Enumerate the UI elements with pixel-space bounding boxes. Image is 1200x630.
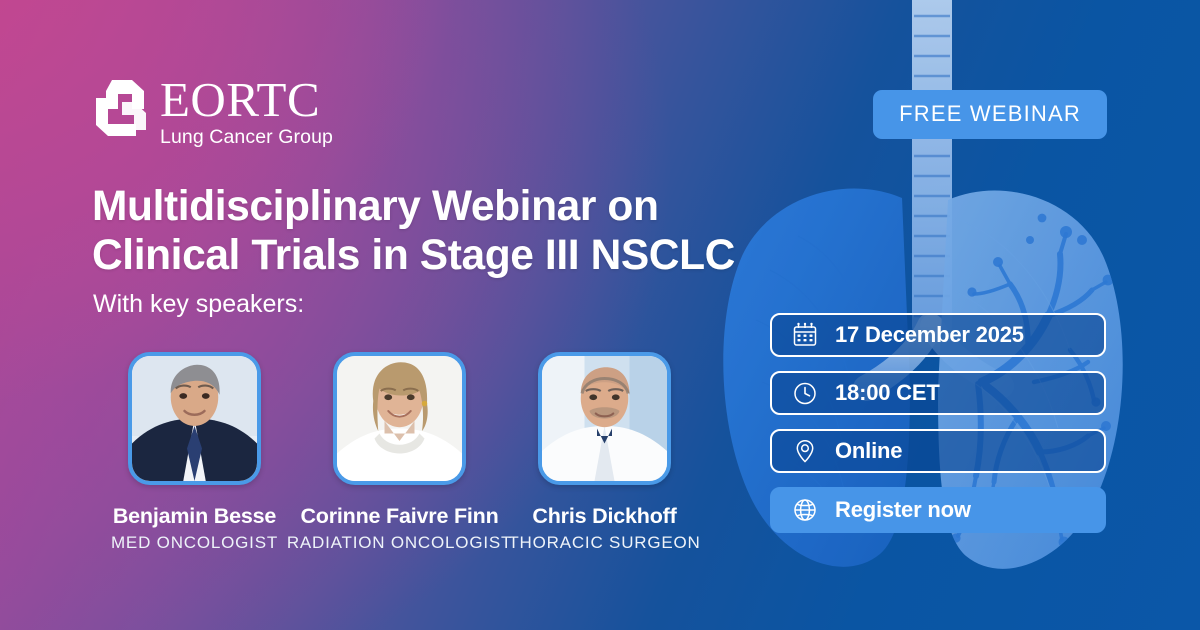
speaker-card: Chris Dickhoff THORACIC SURGEON: [502, 352, 707, 553]
globe-icon: [792, 497, 818, 523]
event-time-box: 18:00 CET: [770, 371, 1106, 415]
calendar-icon: [792, 322, 818, 348]
speaker-name: Chris Dickhoff: [532, 504, 676, 529]
speaker-name: Benjamin Besse: [113, 504, 276, 529]
speaker-card: Benjamin Besse MED ONCOLOGIST: [92, 352, 297, 553]
speaker-role: THORACIC SURGEON: [508, 533, 700, 553]
event-date-box: 17 December 2025: [770, 313, 1106, 357]
speaker-role: RADIATION ONCOLOGIST: [287, 533, 512, 553]
register-now-button[interactable]: Register now: [770, 487, 1106, 533]
eortc-logo: EORTC Lung Cancer Group: [92, 76, 333, 149]
webinar-poster: EORTC Lung Cancer Group FREE WEBINAR Mul…: [0, 0, 1200, 630]
eortc-cube-logo-icon: [92, 78, 150, 140]
logo-tagline: Lung Cancer Group: [160, 126, 333, 149]
event-time-text: 18:00 CET: [835, 380, 940, 406]
logo-wordmark: EORTC: [160, 76, 333, 124]
speaker-role: MED ONCOLOGIST: [111, 533, 278, 553]
avatar: [333, 352, 466, 485]
title-line-1: Multidisciplinary Webinar on: [92, 182, 735, 231]
speakers-list: Benjamin Besse MED ONCOLOGIST: [92, 352, 707, 553]
page-title: Multidisciplinary Webinar on Clinical Tr…: [92, 182, 735, 281]
event-location-box: Online: [770, 429, 1106, 473]
event-date-text: 17 December 2025: [835, 322, 1024, 348]
avatar: [538, 352, 671, 485]
speakers-label: With key speakers:: [93, 290, 304, 319]
speaker-name: Corinne Faivre Finn: [300, 504, 498, 529]
clock-icon: [792, 380, 818, 406]
avatar: [128, 352, 261, 485]
free-webinar-badge: FREE WEBINAR: [873, 90, 1107, 139]
event-details: 17 December 2025 18:00 CET Online: [770, 313, 1106, 533]
title-line-2: Clinical Trials in Stage III NSCLC: [92, 231, 735, 280]
register-now-label: Register now: [835, 497, 971, 523]
speaker-card: Corinne Faivre Finn RADIATION ONCOLOGIST: [297, 352, 502, 553]
location-pin-icon: [792, 438, 818, 464]
event-location-text: Online: [835, 438, 902, 464]
